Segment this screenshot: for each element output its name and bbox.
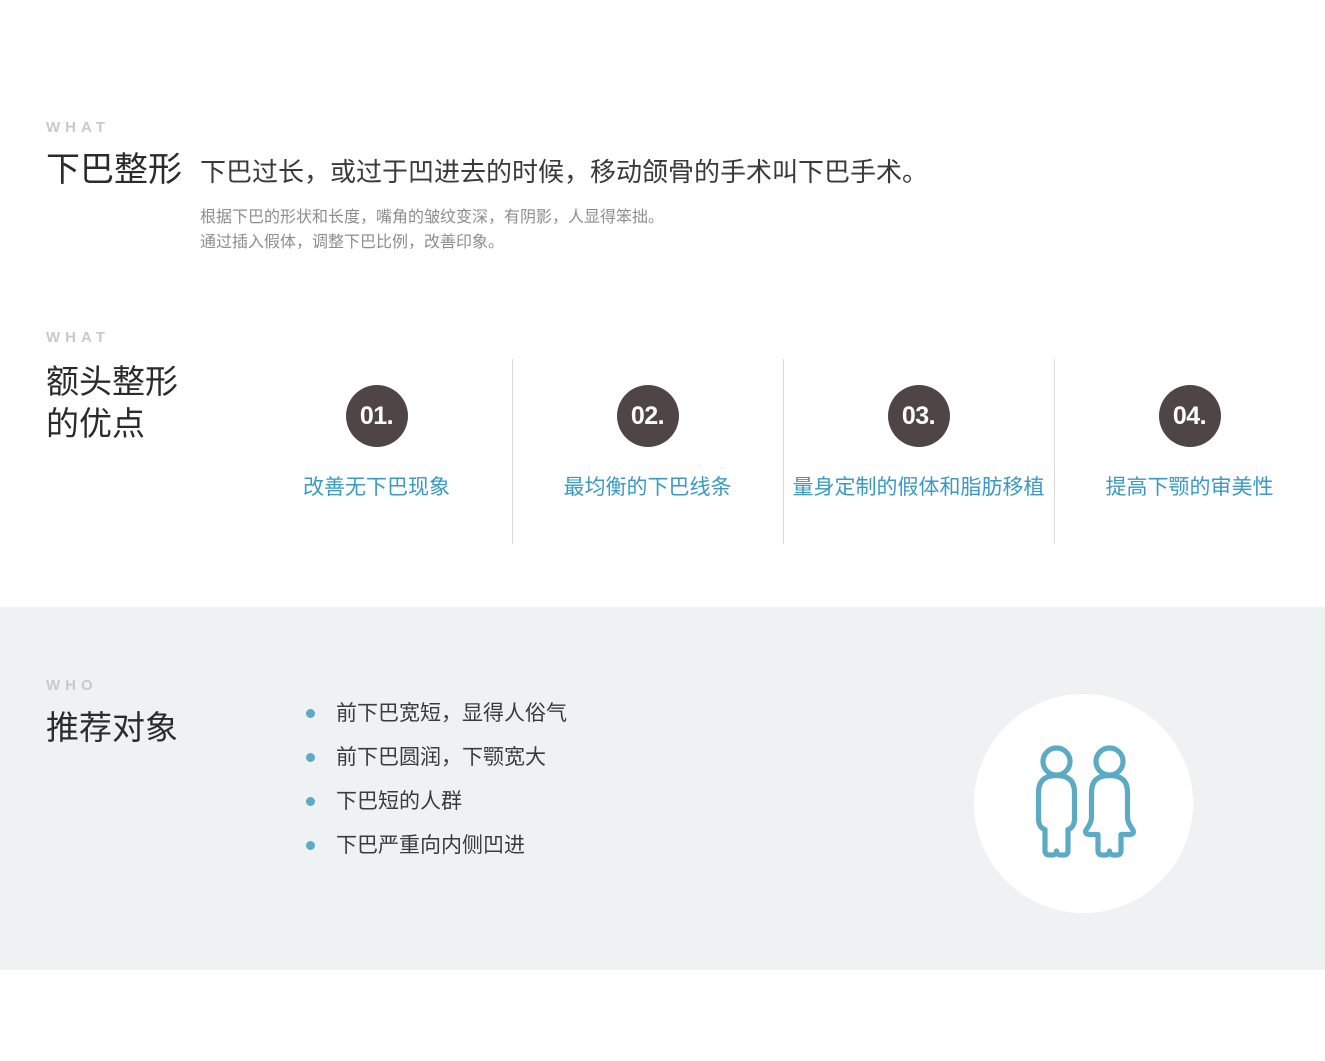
- advantages-title-line-1: 额头整形: [46, 361, 241, 403]
- who-bullet-list: 前下巴宽短，显得人俗气 前下巴圆润，下颚宽大 下巴短的人群 下巴严重向内侧凹进: [306, 702, 567, 857]
- section-advantages: WHAT 额头整形 的优点 01. 改善无下巴现象 02. 最均衡的下巴线条 0…: [46, 330, 1325, 544]
- advantage-card-01[interactable]: 01. 改善无下巴现象: [241, 359, 512, 544]
- advantage-label-01: 改善无下巴现象: [303, 475, 450, 500]
- advantage-badge-03: 03.: [888, 385, 950, 447]
- chin-surgery-body: 下巴过长，或过于凹进去的时候，移动颌骨的手术叫下巴手术。 根据下巴的形状和长度，…: [200, 156, 1286, 256]
- advantage-badge-04: 04.: [1159, 385, 1221, 447]
- chin-surgery-lead: 下巴过长，或过于凹进去的时候，移动颌骨的手术叫下巴手术。: [200, 156, 1286, 189]
- who-bullet-text-4: 下巴严重向内侧凹进: [336, 834, 525, 857]
- advantages-title-line-2: 的优点: [46, 403, 241, 445]
- who-bullet-text-3: 下巴短的人群: [336, 790, 462, 813]
- advantages-title: 额头整形 的优点: [46, 359, 241, 445]
- chin-surgery-row: 下巴整形 下巴过长，或过于凹进去的时候，移动颌骨的手术叫下巴手术。 根据下巴的形…: [46, 151, 1286, 256]
- bullet-dot-icon: [306, 753, 315, 762]
- who-bullet-text-2: 前下巴圆润，下颚宽大: [336, 746, 546, 769]
- advantage-card-03[interactable]: 03. 量身定制的假体和脂肪移植: [783, 359, 1054, 544]
- two-people-icon: [1030, 745, 1138, 863]
- advantage-badge-01: 01.: [346, 385, 408, 447]
- who-icon-circle: [974, 694, 1193, 913]
- advantage-card-04[interactable]: 04. 提高下颚的审美性: [1054, 359, 1325, 544]
- slide-page: WHAT 下巴整形 下巴过长，或过于凹进去的时候，移动颌骨的手术叫下巴手术。 根…: [0, 0, 1325, 1061]
- who-title: 推荐对象: [46, 708, 296, 748]
- advantages-cards: 01. 改善无下巴现象 02. 最均衡的下巴线条 03. 量身定制的假体和脂肪移…: [241, 359, 1325, 544]
- bullet-dot-icon: [306, 709, 315, 718]
- list-item: 下巴严重向内侧凹进: [306, 834, 567, 857]
- bullet-dot-icon: [306, 841, 315, 850]
- list-item: 前下巴宽短，显得人俗气: [306, 702, 567, 725]
- chin-description-line-2: 通过插入假体，调整下巴比例，改善印象。: [200, 230, 1286, 256]
- list-item: 前下巴圆润，下颚宽大: [306, 746, 567, 769]
- eyebrow-what-1: WHAT: [46, 120, 1286, 135]
- advantage-label-02: 最均衡的下巴线条: [564, 475, 732, 500]
- chin-surgery-description: 根据下巴的形状和长度，嘴角的皱纹变深，有阴影，人显得笨拙。 通过插入假体，调整下…: [200, 205, 1286, 256]
- section-chin-surgery: WHAT 下巴整形 下巴过长，或过于凹进去的时候，移动颌骨的手术叫下巴手术。 根…: [46, 120, 1286, 256]
- chin-surgery-title: 下巴整形: [46, 151, 182, 190]
- chin-description-line-1: 根据下巴的形状和长度，嘴角的皱纹变深，有阴影，人显得笨拙。: [200, 205, 1286, 231]
- eyebrow-what-2: WHAT: [46, 330, 1325, 345]
- advantage-badge-02: 02.: [617, 385, 679, 447]
- advantage-card-02[interactable]: 02. 最均衡的下巴线条: [512, 359, 783, 544]
- who-heading-group: WHO 推荐对象: [46, 678, 296, 748]
- advantages-row: 额头整形 的优点 01. 改善无下巴现象 02. 最均衡的下巴线条 03. 量身…: [46, 359, 1325, 544]
- eyebrow-who: WHO: [46, 678, 296, 693]
- list-item: 下巴短的人群: [306, 790, 567, 813]
- who-bullet-text-1: 前下巴宽短，显得人俗气: [336, 702, 567, 725]
- advantage-label-04: 提高下颚的审美性: [1106, 475, 1274, 500]
- bullet-dot-icon: [306, 797, 315, 806]
- advantage-label-03: 量身定制的假体和脂肪移植: [793, 475, 1045, 500]
